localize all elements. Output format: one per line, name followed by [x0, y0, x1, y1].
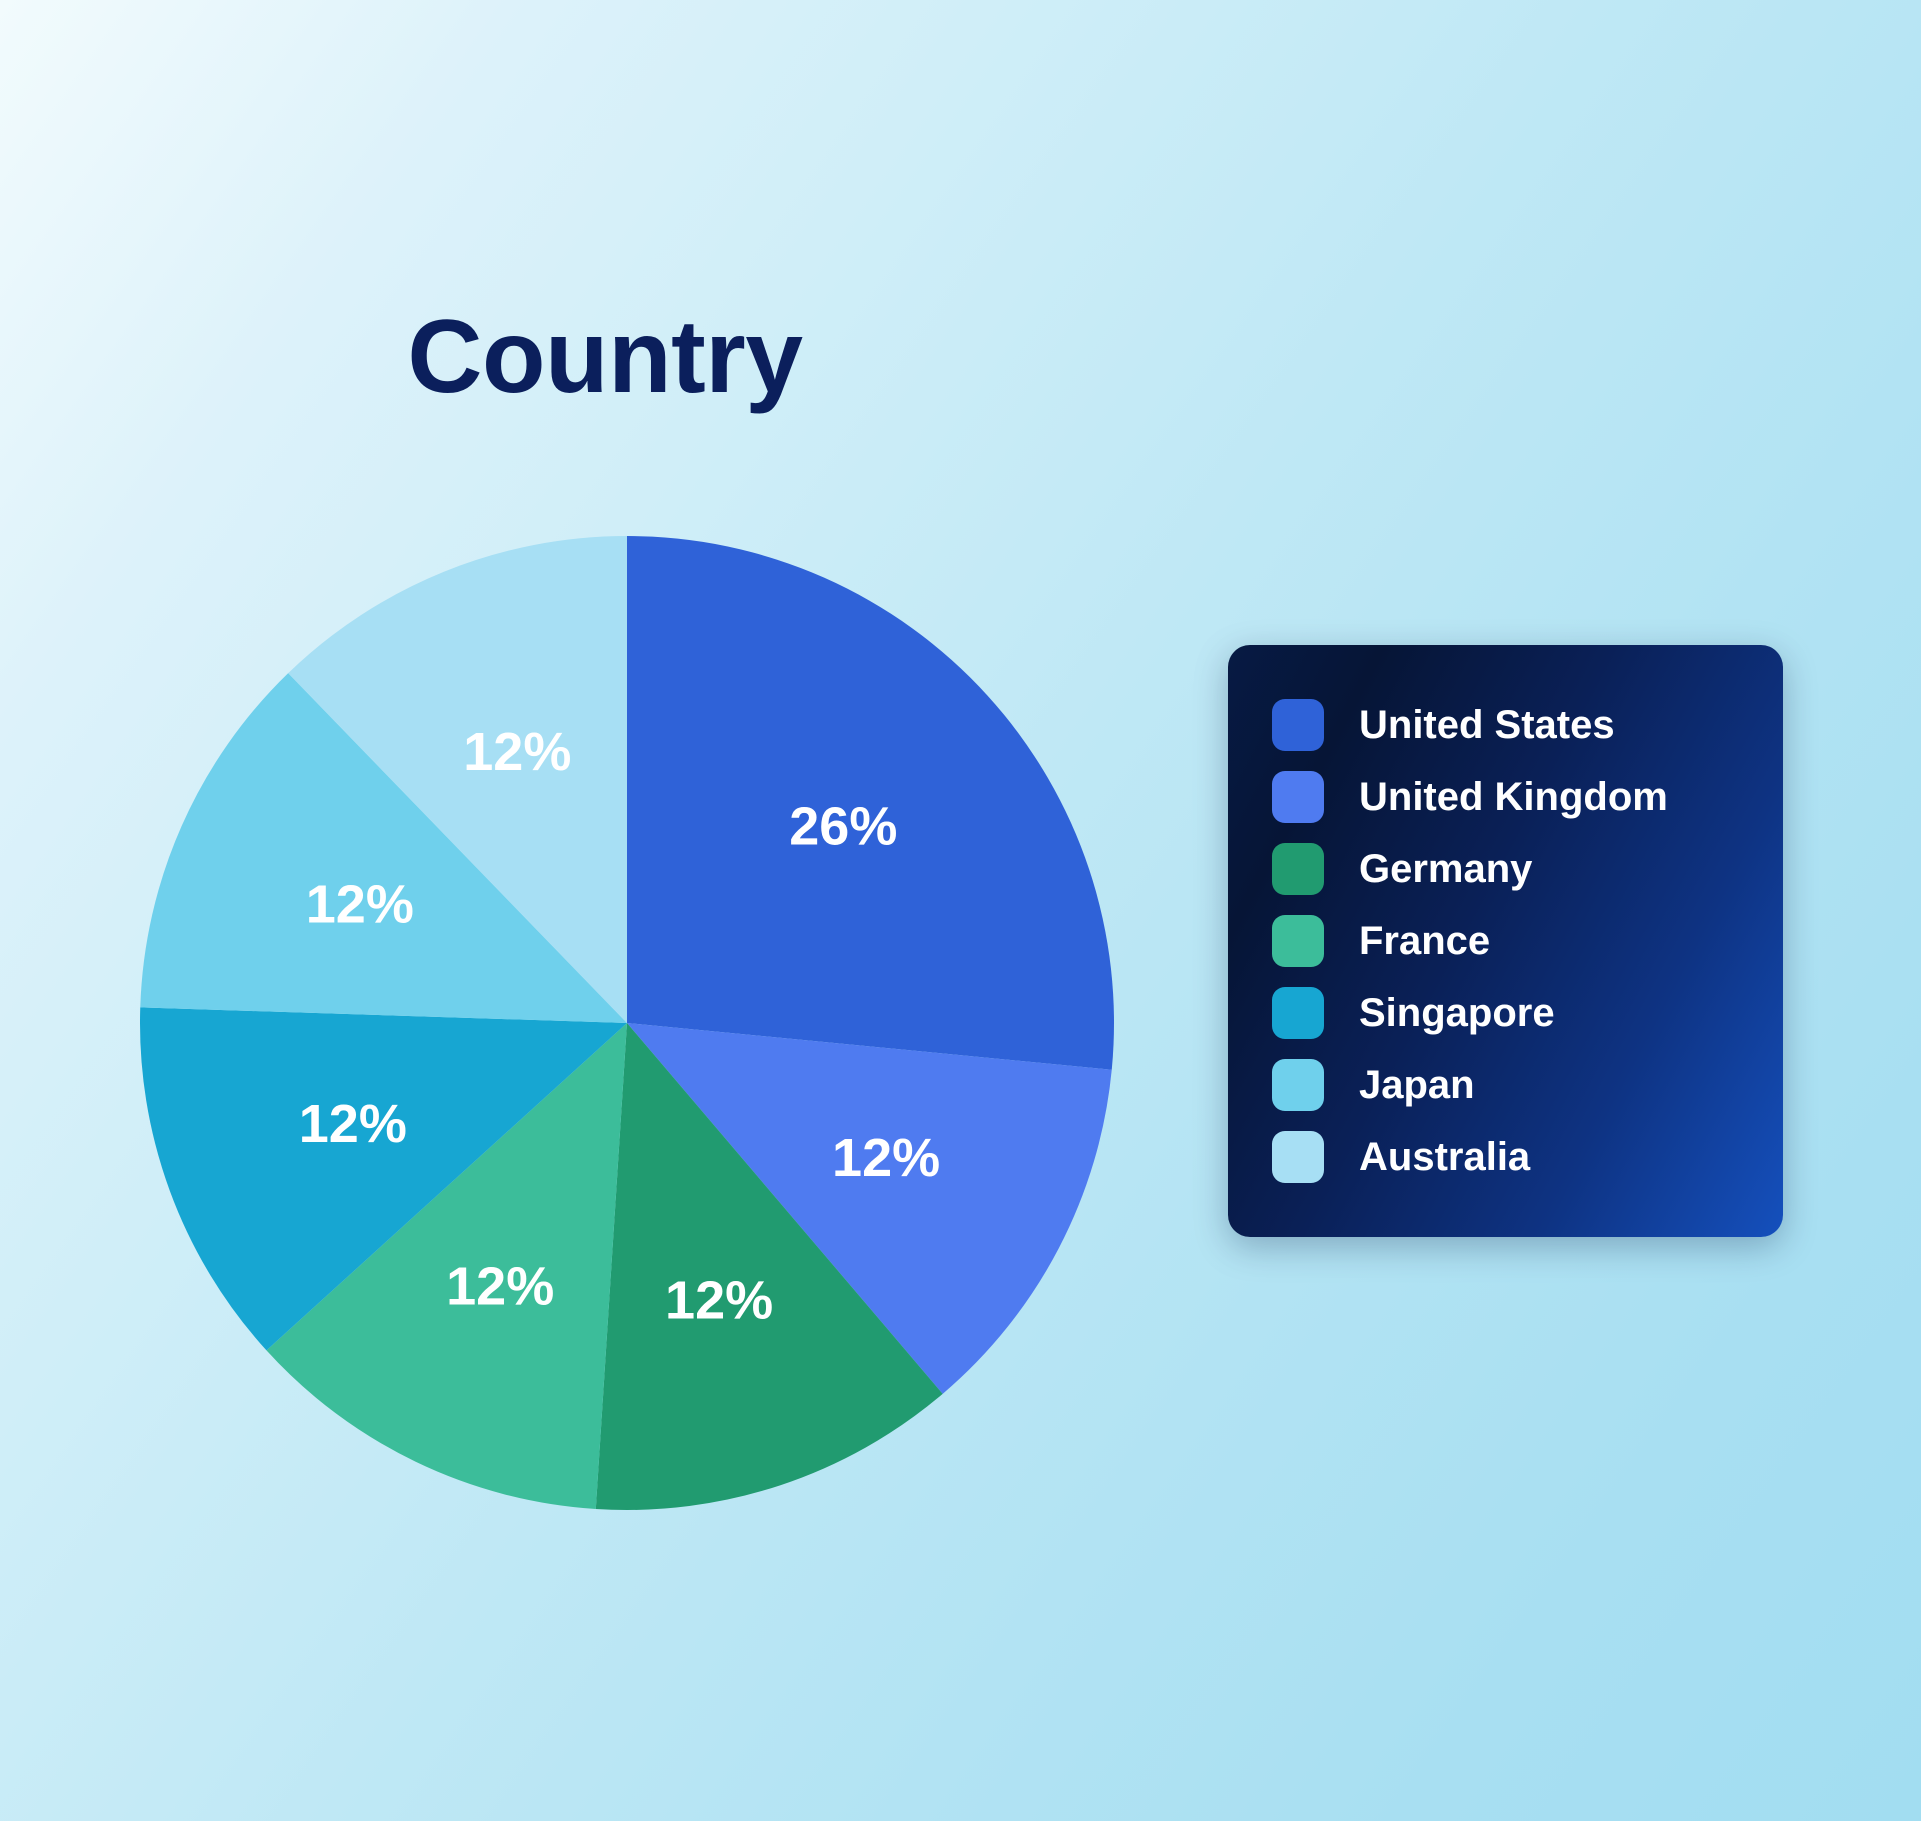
- legend-item[interactable]: Japan: [1272, 1049, 1743, 1121]
- legend-item[interactable]: Germany: [1272, 833, 1743, 905]
- legend-swatch-icon: [1272, 1059, 1324, 1111]
- legend-item-label: Germany: [1359, 849, 1532, 889]
- legend-item[interactable]: France: [1272, 905, 1743, 977]
- pie-slice-group: [140, 536, 1114, 1510]
- legend-item[interactable]: Australia: [1272, 1121, 1743, 1193]
- legend-item-label: United Kingdom: [1359, 777, 1668, 817]
- legend-list: United StatesUnited KingdomGermanyFrance…: [1272, 689, 1743, 1193]
- pie-slice-label: 12%: [299, 1094, 407, 1154]
- pie-chart-figure: Country 26%12%12%12%12%12%12% United Sta…: [0, 0, 1921, 1821]
- pie-slice-label: 12%: [446, 1256, 554, 1316]
- pie-slice-label: 12%: [832, 1128, 940, 1188]
- legend-item[interactable]: United Kingdom: [1272, 761, 1743, 833]
- legend-item-label: Australia: [1359, 1137, 1530, 1177]
- legend-item-label: United States: [1359, 705, 1615, 745]
- legend-item-label: Singapore: [1359, 993, 1555, 1033]
- pie-slice-label: 12%: [463, 722, 571, 782]
- legend-item[interactable]: United States: [1272, 689, 1743, 761]
- pie-slice-label: 12%: [306, 875, 414, 935]
- legend-item-label: France: [1359, 921, 1490, 961]
- legend-swatch-icon: [1272, 699, 1324, 751]
- page-title: Country: [0, 305, 1210, 409]
- legend-swatch-icon: [1272, 915, 1324, 967]
- legend-item[interactable]: Singapore: [1272, 977, 1743, 1049]
- legend-item-label: Japan: [1359, 1065, 1475, 1105]
- legend-swatch-icon: [1272, 1131, 1324, 1183]
- pie-chart: 26%12%12%12%12%12%12%: [140, 536, 1114, 1510]
- pie-slice-label: 12%: [665, 1270, 773, 1330]
- pie-svg: 26%12%12%12%12%12%12%: [140, 536, 1114, 1510]
- legend-swatch-icon: [1272, 987, 1324, 1039]
- legend-swatch-icon: [1272, 843, 1324, 895]
- legend-swatch-icon: [1272, 771, 1324, 823]
- legend-panel: United StatesUnited KingdomGermanyFrance…: [1228, 645, 1783, 1237]
- pie-slice-label: 26%: [789, 797, 897, 857]
